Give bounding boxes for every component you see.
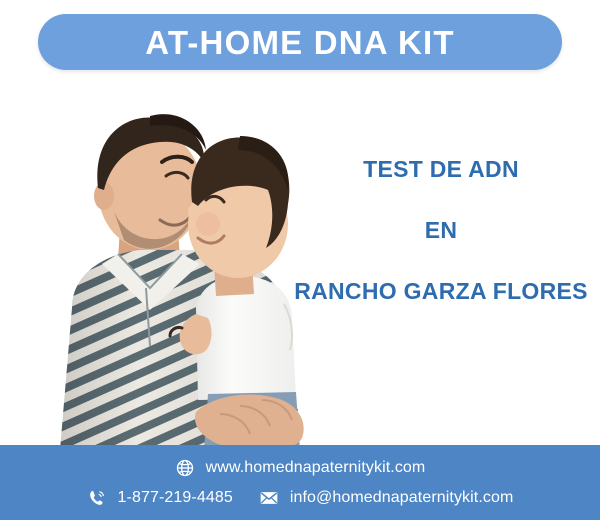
title-banner: AT-HOME DNA KIT <box>38 14 562 70</box>
headline-line-1: TEST DE ADN <box>282 158 600 181</box>
website-label: www.homednapaternitykit.com <box>206 459 426 477</box>
poster-canvas: AT-HOME DNA KIT <box>0 0 600 520</box>
website-contact[interactable]: www.homednapaternitykit.com <box>175 458 426 478</box>
contact-footer: www.homednapaternitykit.com 1-877-219-44… <box>0 445 600 520</box>
family-photo <box>0 78 330 450</box>
phone-contact[interactable]: 1-877-219-4485 <box>87 488 233 508</box>
banner-title-text: AT-HOME DNA KIT <box>145 26 454 59</box>
headline-block: TEST DE ADN EN RANCHO GARZA FLORES <box>282 158 600 303</box>
footer-row-phone-email: 1-877-219-4485 info@homednapaternitykit.… <box>0 483 600 513</box>
footer-row-website: www.homednapaternitykit.com <box>0 453 600 483</box>
globe-icon <box>175 458 195 478</box>
phone-label: 1-877-219-4485 <box>118 489 233 507</box>
email-label: info@homednapaternitykit.com <box>290 489 514 507</box>
family-photo-illustration <box>0 78 330 450</box>
phone-icon <box>87 488 107 508</box>
email-contact[interactable]: info@homednapaternitykit.com <box>259 488 514 508</box>
envelope-icon <box>259 488 279 508</box>
headline-line-2: EN <box>282 219 600 242</box>
headline-line-3: RANCHO GARZA FLORES <box>282 280 600 303</box>
